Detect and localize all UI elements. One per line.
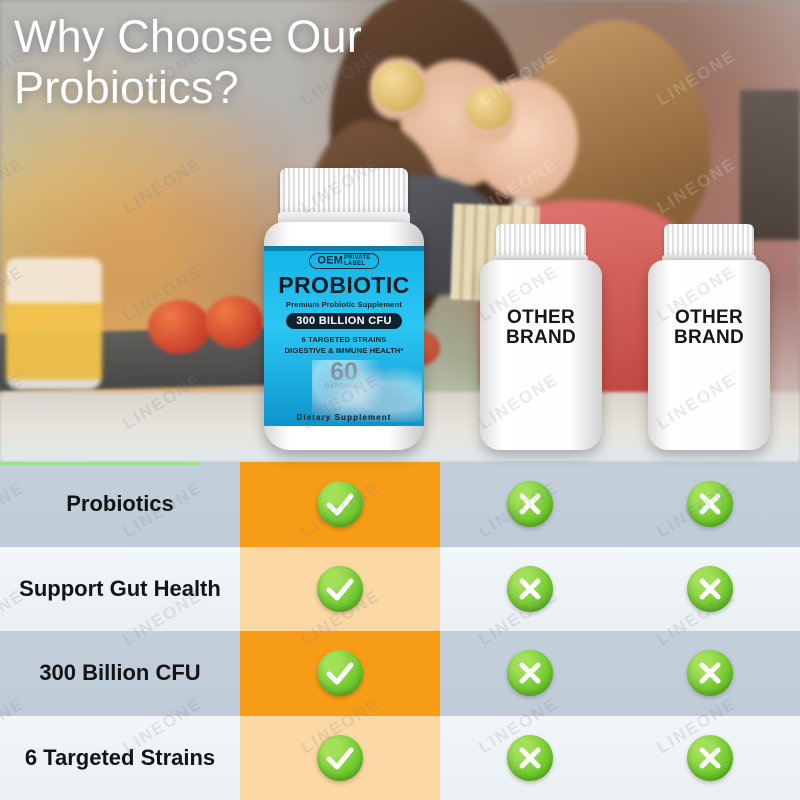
- product-comparison-infographic: Why Choose Our Probiotics? OEMPRIVATELAB…: [0, 0, 800, 800]
- comparison-table: ProbioticsSupport Gut Health300 Billion …: [0, 462, 800, 800]
- bottle-cap: [496, 224, 586, 258]
- competitor-bottle-2[interactable]: OTHER BRAND: [648, 224, 770, 450]
- product-label: OEMPRIVATELABEL PROBIOTIC Premium Probio…: [264, 246, 424, 426]
- feature-label: Support Gut Health: [0, 547, 240, 632]
- cross-icon: [687, 650, 733, 696]
- competitor-label-line1: OTHER: [480, 308, 602, 328]
- product-subtitle: Premium Probiotic Supplement: [264, 300, 424, 309]
- cross-icon: [687, 481, 733, 527]
- cross-icon: [687, 735, 733, 781]
- feature-label: Probiotics: [0, 462, 240, 547]
- cross-icon: [507, 650, 553, 696]
- juice-pitcher: [6, 258, 102, 390]
- check-icon: [317, 566, 363, 612]
- product-name: PROBIOTIC: [264, 272, 424, 299]
- our-product-mark-cell: [240, 462, 440, 547]
- oem-private-label-badge: OEMPRIVATELABEL: [309, 253, 378, 269]
- competitor-1-mark-cell: [440, 631, 620, 716]
- dietary-supplement-text: Dietary Supplement: [264, 413, 424, 422]
- cross-icon: [687, 566, 733, 612]
- competitor-2-mark-cell: [620, 547, 800, 632]
- health-line: DIGESTIVE & IMMUNE HEALTH*: [264, 345, 424, 356]
- private-text: PRIVATE: [344, 255, 371, 261]
- competitor-label-line2: BRAND: [648, 328, 770, 348]
- oem-text: OEM: [317, 255, 343, 267]
- our-product-mark-cell: [240, 716, 440, 800]
- bottle-body: [480, 260, 602, 450]
- competitor-1-mark-cell: [440, 547, 620, 632]
- competitor-2-mark-cell: [620, 716, 800, 800]
- competitor-2-mark-cell: [620, 631, 800, 716]
- competitor-label-line2: BRAND: [480, 328, 602, 348]
- bottle-body: OEMPRIVATELABEL PROBIOTIC Premium Probio…: [264, 222, 424, 450]
- check-icon: [317, 650, 363, 696]
- competitor-1-mark-cell: [440, 716, 620, 800]
- page-title: Why Choose Our Probiotics?: [14, 12, 414, 114]
- our-product-mark-cell: [240, 631, 440, 716]
- check-icon: [317, 735, 363, 781]
- table-row: 6 Targeted Strains: [0, 716, 800, 800]
- bottle-body: [648, 260, 770, 450]
- strains-line: 6 TARGETED STRAINS: [264, 334, 424, 345]
- label-text: LABEL: [344, 261, 365, 267]
- feature-label: 6 Targeted Strains: [0, 716, 240, 800]
- competitor-label-line1: OTHER: [648, 308, 770, 328]
- cfu-badge: 300 BILLION CFU: [286, 313, 402, 329]
- cookie-right: [466, 86, 512, 130]
- check-icon: [317, 481, 363, 527]
- cross-icon: [507, 481, 553, 527]
- table-row: Probiotics: [0, 462, 800, 547]
- appliance-blur: [740, 90, 800, 240]
- bottle-cap: [664, 224, 754, 258]
- tomato-2: [205, 296, 263, 348]
- table-row: Support Gut Health: [0, 547, 800, 632]
- table-row: 300 Billion CFU: [0, 631, 800, 716]
- tomato-1: [148, 300, 210, 354]
- competitor-1-mark-cell: [440, 462, 620, 547]
- product-bottle[interactable]: OEMPRIVATELABEL PROBIOTIC Premium Probio…: [258, 168, 430, 450]
- highlight-column-top-border: [0, 462, 200, 465]
- cross-icon: [507, 566, 553, 612]
- competitor-2-mark-cell: [620, 462, 800, 547]
- cross-icon: [507, 735, 553, 781]
- feature-label: 300 Billion CFU: [0, 631, 240, 716]
- our-product-mark-cell: [240, 547, 440, 632]
- bottle-cap: [280, 168, 408, 216]
- table-rows: ProbioticsSupport Gut Health300 Billion …: [0, 462, 800, 800]
- competitor-bottle-1[interactable]: OTHER BRAND: [480, 224, 602, 450]
